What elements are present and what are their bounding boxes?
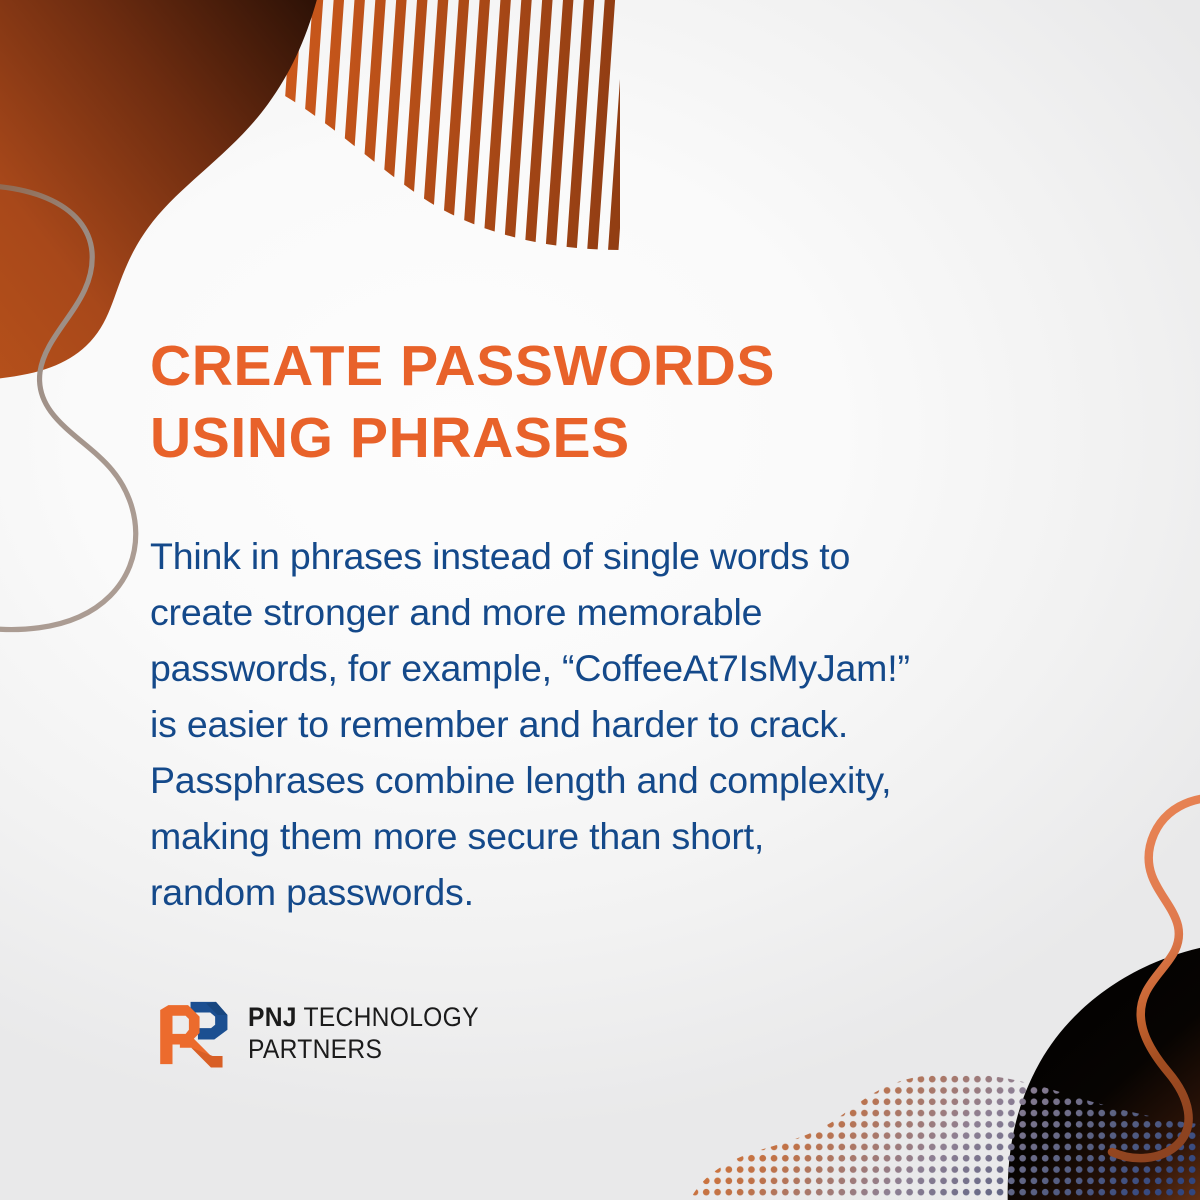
squiggle-line-decor (0, 185, 136, 629)
halftone-dots-decor (690, 1055, 1200, 1200)
top-left-blob (0, 0, 330, 382)
bottom-right-dark-blob (1008, 940, 1200, 1200)
brand-name: PNJ (248, 1002, 297, 1032)
brand-descriptor-1: TECHNOLOGY (297, 1002, 479, 1032)
brand-wordmark: PNJ TECHNOLOGY PARTNERS (248, 1004, 496, 1063)
brand-logo[interactable]: PNJ TECHNOLOGY PARTNERS (152, 992, 496, 1074)
poster-canvas: CREATE PASSWORDS USING PHRASES Think in … (0, 0, 1200, 1200)
main-content: CREATE PASSWORDS USING PHRASES Think in … (150, 330, 1050, 474)
brand-line-2: PARTNERS (248, 1036, 479, 1063)
body-copy: Think in phrases instead of single words… (150, 528, 1055, 920)
page-title: CREATE PASSWORDS USING PHRASES (150, 330, 1050, 474)
wave-line-decor (1112, 798, 1200, 1159)
brand-line-1: PNJ TECHNOLOGY (248, 1004, 479, 1031)
pnj-monogram-icon (152, 992, 234, 1074)
